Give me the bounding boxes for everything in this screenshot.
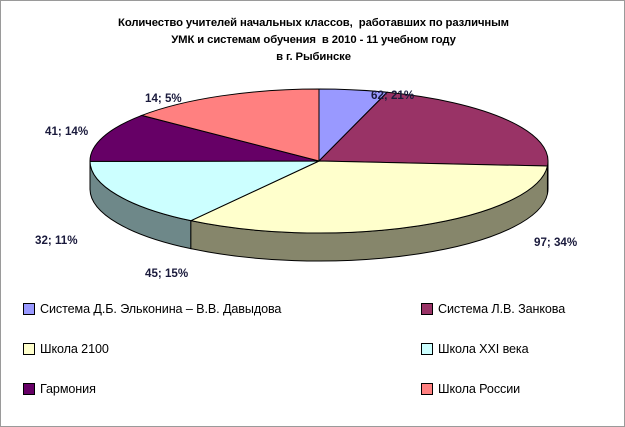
pie-svg (1, 73, 625, 291)
legend-swatch-icon-shkola-2100 (23, 343, 35, 355)
chart-frame: Количество учителей начальных классов, р… (0, 0, 625, 427)
chart-title-line-1: Количество учителей начальных классов, р… (1, 15, 625, 32)
legend-item-elkonin-davydov[interactable]: Система Д.Б. Эльконина – В.В. Давыдова (23, 299, 281, 319)
data-label-shkola-rossii: 41; 14% (45, 125, 88, 138)
chart-title-line-3: в г. Рыбинске (1, 49, 625, 66)
legend-label-zankov: Система Л.В. Занкова (438, 302, 565, 316)
legend-row-2: Школа 2100 Школа XXI века (1, 339, 625, 377)
legend-label-shkola-rossii: Школа России (438, 382, 520, 396)
legend-swatch-icon-zankov (421, 303, 433, 315)
data-label-elkonin: 14; 5% (145, 92, 182, 105)
legend-swatch-icon-elkonin-davydov (23, 303, 35, 315)
pie-top-slices (90, 89, 548, 233)
legend-label-elkonin-davydov: Система Д.Б. Эльконина – В.В. Давыдова (40, 302, 281, 316)
legend-swatch-icon-shkola-xxi (421, 343, 433, 355)
legend-label-shkola-2100: Школа 2100 (40, 342, 109, 356)
legend-swatch-icon-shkola-rossii (421, 383, 433, 395)
chart-title-line-2: УМК и системам обучения в 2010 - 11 учеб… (1, 32, 625, 49)
legend-item-shkola-rossii[interactable]: Школа России (421, 379, 520, 399)
chart-legend: Система Д.Б. Эльконина – В.В. Давыдова С… (1, 299, 625, 421)
data-label-zankov: 62; 21% (371, 89, 414, 102)
legend-item-garmoniya[interactable]: Гармония (23, 379, 96, 399)
legend-item-shkola-2100[interactable]: Школа 2100 (23, 339, 109, 359)
legend-swatch-icon-garmoniya (23, 383, 35, 395)
legend-item-zankov[interactable]: Система Л.В. Занкова (421, 299, 565, 319)
legend-item-shkola-xxi[interactable]: Школа XXI века (421, 339, 529, 359)
legend-row-1: Система Д.Б. Эльконина – В.В. Давыдова С… (1, 299, 625, 337)
legend-row-3: Гармония Школа России (1, 379, 625, 417)
data-label-shkola-2100: 97; 34% (534, 236, 577, 249)
data-label-garmoniya: 32; 11% (35, 234, 78, 247)
legend-label-shkola-xxi: Школа XXI века (438, 342, 529, 356)
legend-label-garmoniya: Гармония (40, 382, 96, 396)
chart-title: Количество учителей начальных классов, р… (1, 15, 625, 66)
pie-chart-area (1, 73, 625, 291)
data-label-shkola-xxi: 45; 15% (145, 267, 188, 280)
